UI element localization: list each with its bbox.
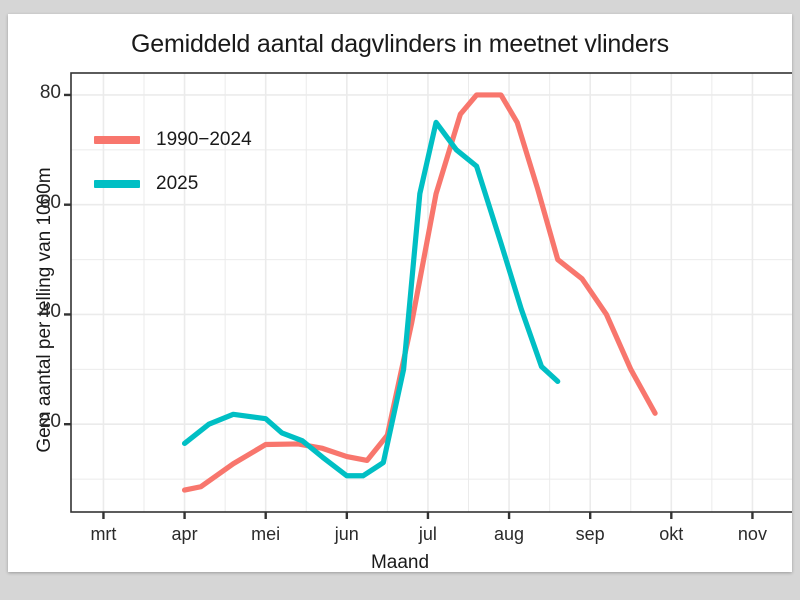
y-tick-label: 40 bbox=[15, 301, 61, 323]
x-tick-label: mrt bbox=[68, 524, 138, 545]
legend-swatch-icon bbox=[94, 136, 140, 144]
y-tick-label: 60 bbox=[15, 192, 61, 214]
x-tick-label: aug bbox=[474, 524, 544, 545]
line-chart-svg bbox=[8, 14, 792, 572]
x-tick-label: jul bbox=[393, 524, 463, 545]
legend-item[interactable]: 2025 bbox=[94, 162, 304, 206]
legend-item[interactable]: 1990−2024 bbox=[94, 118, 304, 162]
screenshot-root: Gemiddeld aantal dagvlinders in meetnet … bbox=[0, 0, 800, 600]
x-tick-label: sep bbox=[555, 524, 625, 545]
plot-area: 20406080 mrtaprmeijunjulaugsepoktnov bbox=[8, 14, 792, 572]
x-tick-label: nov bbox=[717, 524, 787, 545]
chart-card: Gemiddeld aantal dagvlinders in meetnet … bbox=[8, 14, 792, 572]
y-tick-label: 80 bbox=[15, 82, 61, 104]
legend-swatch-icon bbox=[94, 180, 140, 188]
chart-legend: 1990−20242025 bbox=[94, 118, 304, 206]
x-tick-label: jun bbox=[312, 524, 382, 545]
y-tick-label: 20 bbox=[15, 411, 61, 433]
x-tick-label: okt bbox=[636, 524, 706, 545]
x-tick-label: apr bbox=[150, 524, 220, 545]
legend-label: 1990−2024 bbox=[156, 129, 252, 151]
x-tick-label: mei bbox=[231, 524, 301, 545]
legend-label: 2025 bbox=[156, 173, 198, 195]
